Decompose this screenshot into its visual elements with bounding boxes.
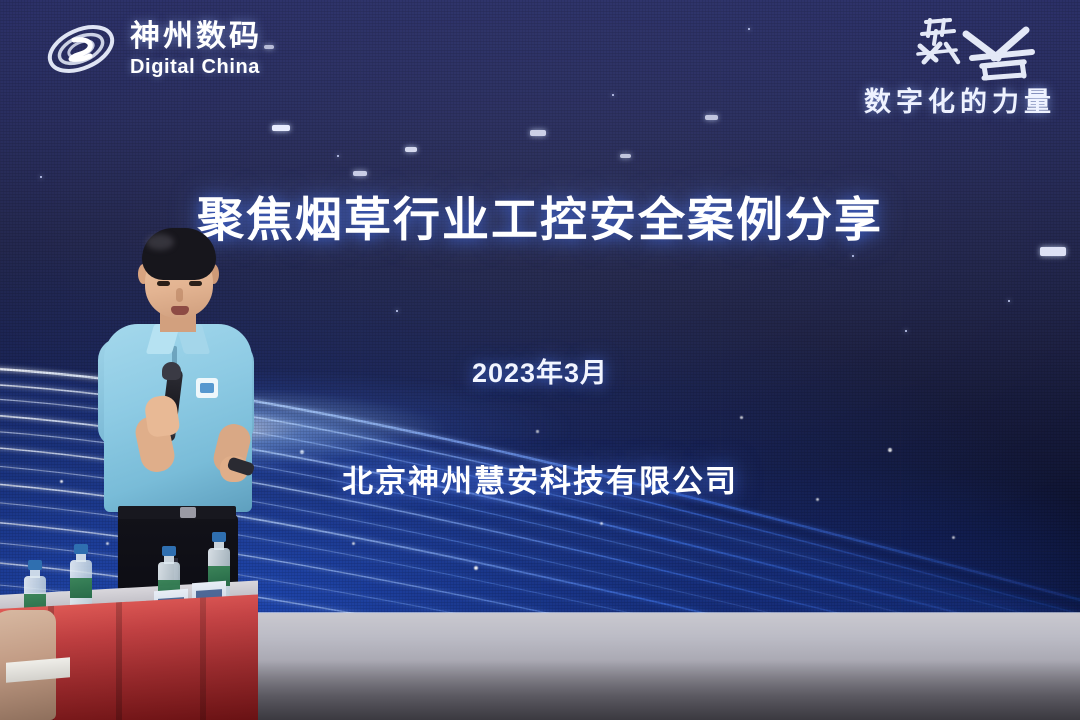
bottle-cap (212, 532, 226, 542)
digital-china-wordmark: 神州数码 Digital China (130, 22, 262, 77)
bottle-cap (162, 546, 176, 556)
microphone-head (162, 362, 181, 380)
digital-china-spiral-logo-icon (44, 18, 118, 80)
speaker-eye-left (157, 281, 170, 286)
light-spark (40, 176, 42, 178)
light-streak (353, 171, 367, 176)
speaker-mouth (171, 306, 189, 315)
light-streak (705, 115, 718, 120)
bottle-cap (74, 544, 88, 554)
brand-name-english: Digital China (130, 57, 262, 77)
light-streak (620, 154, 631, 158)
light-streak (405, 147, 417, 152)
speaker-hair (142, 228, 216, 280)
light-spark (1008, 300, 1010, 302)
water-bottle (70, 544, 92, 610)
light-spark (396, 310, 398, 312)
juhe-calligraphy-logo-icon (906, 14, 1056, 86)
speaker-nose (176, 288, 183, 302)
light-spark (905, 330, 907, 332)
bottle-label (70, 578, 92, 598)
digital-china-logo: 神州数码 Digital China (44, 18, 262, 80)
bottle-cap (28, 560, 42, 570)
light-streak (264, 45, 274, 49)
light-spark (337, 155, 339, 157)
speaker-belt-buckle (180, 507, 196, 518)
speaker-chest-logo-badge (196, 378, 218, 398)
event-logo: 数字化的力量 (864, 14, 1056, 119)
brand-name-chinese: 神州数码 (130, 22, 262, 52)
speaker-belt (118, 506, 236, 519)
light-streak (530, 130, 546, 136)
light-streak (272, 125, 290, 131)
light-spark (612, 94, 614, 96)
light-spark (748, 28, 750, 30)
speaker-eye-right (189, 281, 202, 286)
conference-stage-photo: 神州数码 Digital China (0, 0, 1080, 720)
light-spark (852, 255, 854, 257)
event-tagline: 数字化的力量 (864, 80, 1056, 119)
